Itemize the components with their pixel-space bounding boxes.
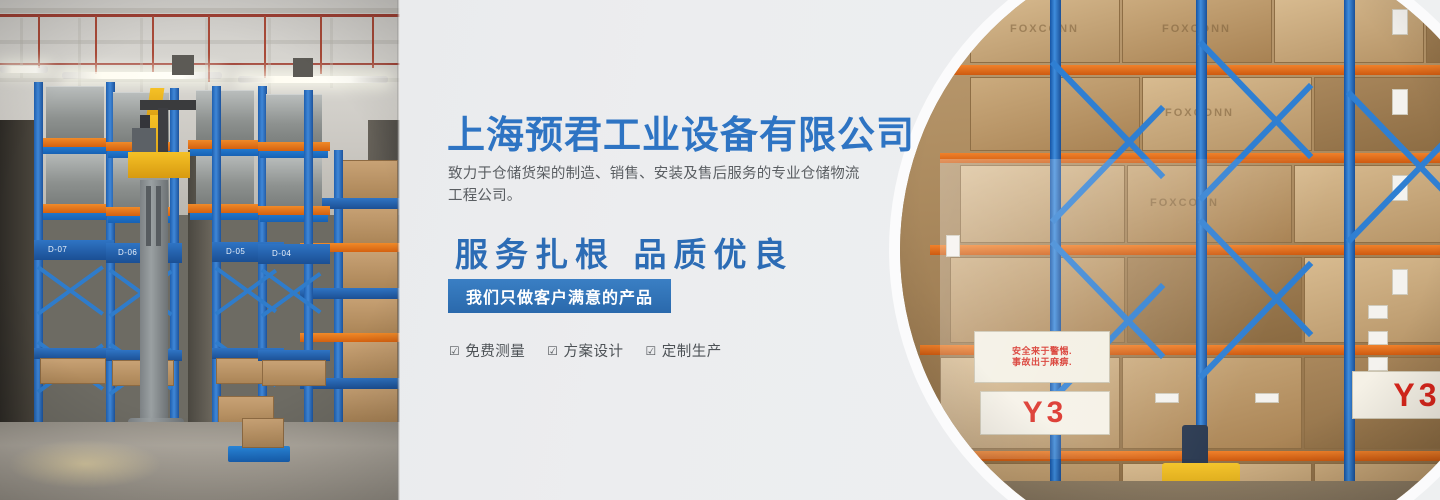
left-warehouse-photo: D-07 D-06 (0, 0, 400, 500)
feature-list: ☑ 免费测量 ☑ 方案设计 ☑ 定制生产 (449, 340, 722, 361)
feature-label: 定制生产 (662, 340, 722, 361)
company-subtitle: 致力于仓储货架的制造、销售、安装及售后服务的专业仓储物流工程公司。 (448, 163, 863, 207)
right-warehouse-circle-photo: FOXCONN FOXCONN FOXCONN FOXCONN (889, 0, 1440, 500)
check-icon: ☑ (449, 345, 460, 357)
feature-item-plan-design[interactable]: ☑ 方案设计 (547, 340, 623, 361)
circle-photo-inner: FOXCONN FOXCONN FOXCONN FOXCONN (900, 0, 1440, 500)
slogan-text: 服务扎根 品质优良 (455, 228, 794, 276)
feature-label: 免费测量 (465, 340, 525, 361)
hero-banner: D-07 D-06 (0, 0, 1440, 500)
feature-item-free-measure[interactable]: ☑ 免费测量 (449, 340, 525, 361)
photo-right-edge (397, 0, 400, 500)
check-icon: ☑ (547, 345, 558, 357)
photo-vignette (900, 0, 1440, 500)
feature-item-custom-production[interactable]: ☑ 定制生产 (646, 340, 722, 361)
cta-button[interactable]: 我们只做客户满意的产品 (448, 279, 671, 313)
feature-label: 方案设计 (564, 340, 624, 361)
company-title: 上海预君工业设备有限公司 (447, 104, 915, 159)
photo-vignette (0, 0, 400, 500)
hero-content: 上海预君工业设备有限公司 致力于仓储货架的制造、销售、安装及售后服务的专业仓储物… (447, 0, 917, 500)
check-icon: ☑ (646, 345, 657, 357)
